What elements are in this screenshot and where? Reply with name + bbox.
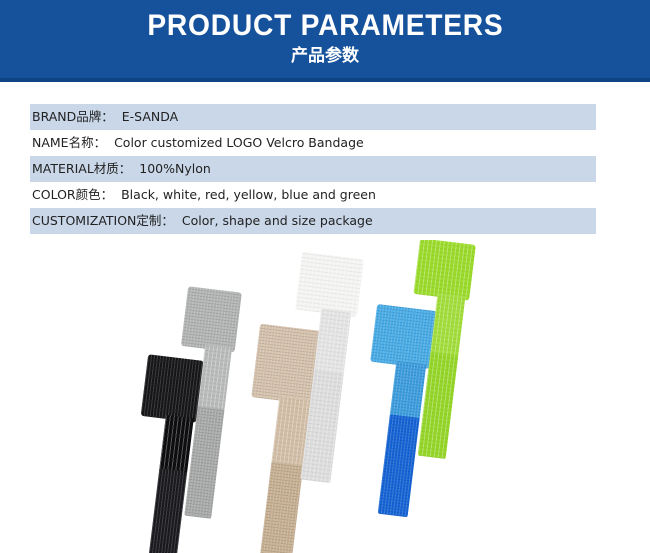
strap-tail-upper: [313, 309, 351, 378]
velcro-strap-green: [392, 240, 482, 474]
page-header: PRODUCT PARAMETERS 产品参数: [0, 0, 650, 82]
page-title: PRODUCT PARAMETERS: [147, 9, 503, 43]
strap-tail-lower: [301, 370, 344, 483]
spec-value: Color customized LOGO Velcro Bandage: [114, 135, 364, 150]
strap-tail-lower: [418, 352, 458, 459]
strap-texture: [313, 309, 351, 378]
header-underline: [0, 78, 650, 82]
strap-texture: [295, 252, 364, 317]
table-row: COLOR颜色： Black, white, red, yellow, blue…: [30, 182, 596, 208]
spec-label: COLOR颜色：: [32, 187, 113, 202]
spec-label: BRAND品牌：: [32, 109, 114, 124]
spec-value: E-SANDA: [122, 109, 178, 124]
strap-head: [295, 252, 364, 317]
strap-tail-upper: [197, 345, 232, 414]
velcro-strap-white: [272, 252, 370, 508]
strap-texture: [184, 406, 224, 518]
product-parameters-table: BRAND品牌： E-SANDA NAME名称： Color customize…: [30, 104, 596, 260]
table-row: CUSTOMIZATION定制： Color, shape and size p…: [30, 208, 596, 234]
strap-texture: [418, 352, 458, 459]
strap-texture: [430, 293, 466, 360]
strap-texture: [181, 286, 242, 352]
strap-tail-upper: [430, 293, 466, 360]
strap-texture: [413, 240, 475, 301]
strap-head: [413, 240, 475, 301]
table-row: BRAND品牌： E-SANDA: [30, 104, 596, 130]
spec-value: Color, shape and size package: [182, 213, 373, 228]
strap-head: [181, 286, 242, 352]
table-row: MATERIAL材质： 100%Nylon: [30, 156, 596, 182]
strap-texture: [301, 370, 344, 483]
spec-label: CUSTOMIZATION定制：: [32, 213, 174, 228]
spec-value: 100%Nylon: [139, 161, 211, 176]
page-subtitle: 产品参数: [291, 45, 359, 67]
strap-texture: [197, 345, 232, 414]
velcro-strap-gray: [159, 286, 250, 532]
spec-label: MATERIAL材质：: [32, 161, 131, 176]
spec-label: NAME名称：: [32, 135, 106, 150]
strap-tail-lower: [184, 406, 224, 518]
product-photo: [0, 240, 650, 553]
spec-value: Black, white, red, yellow, blue and gree…: [121, 187, 376, 202]
table-row: NAME名称： Color customized LOGO Velcro Ban…: [30, 130, 596, 156]
